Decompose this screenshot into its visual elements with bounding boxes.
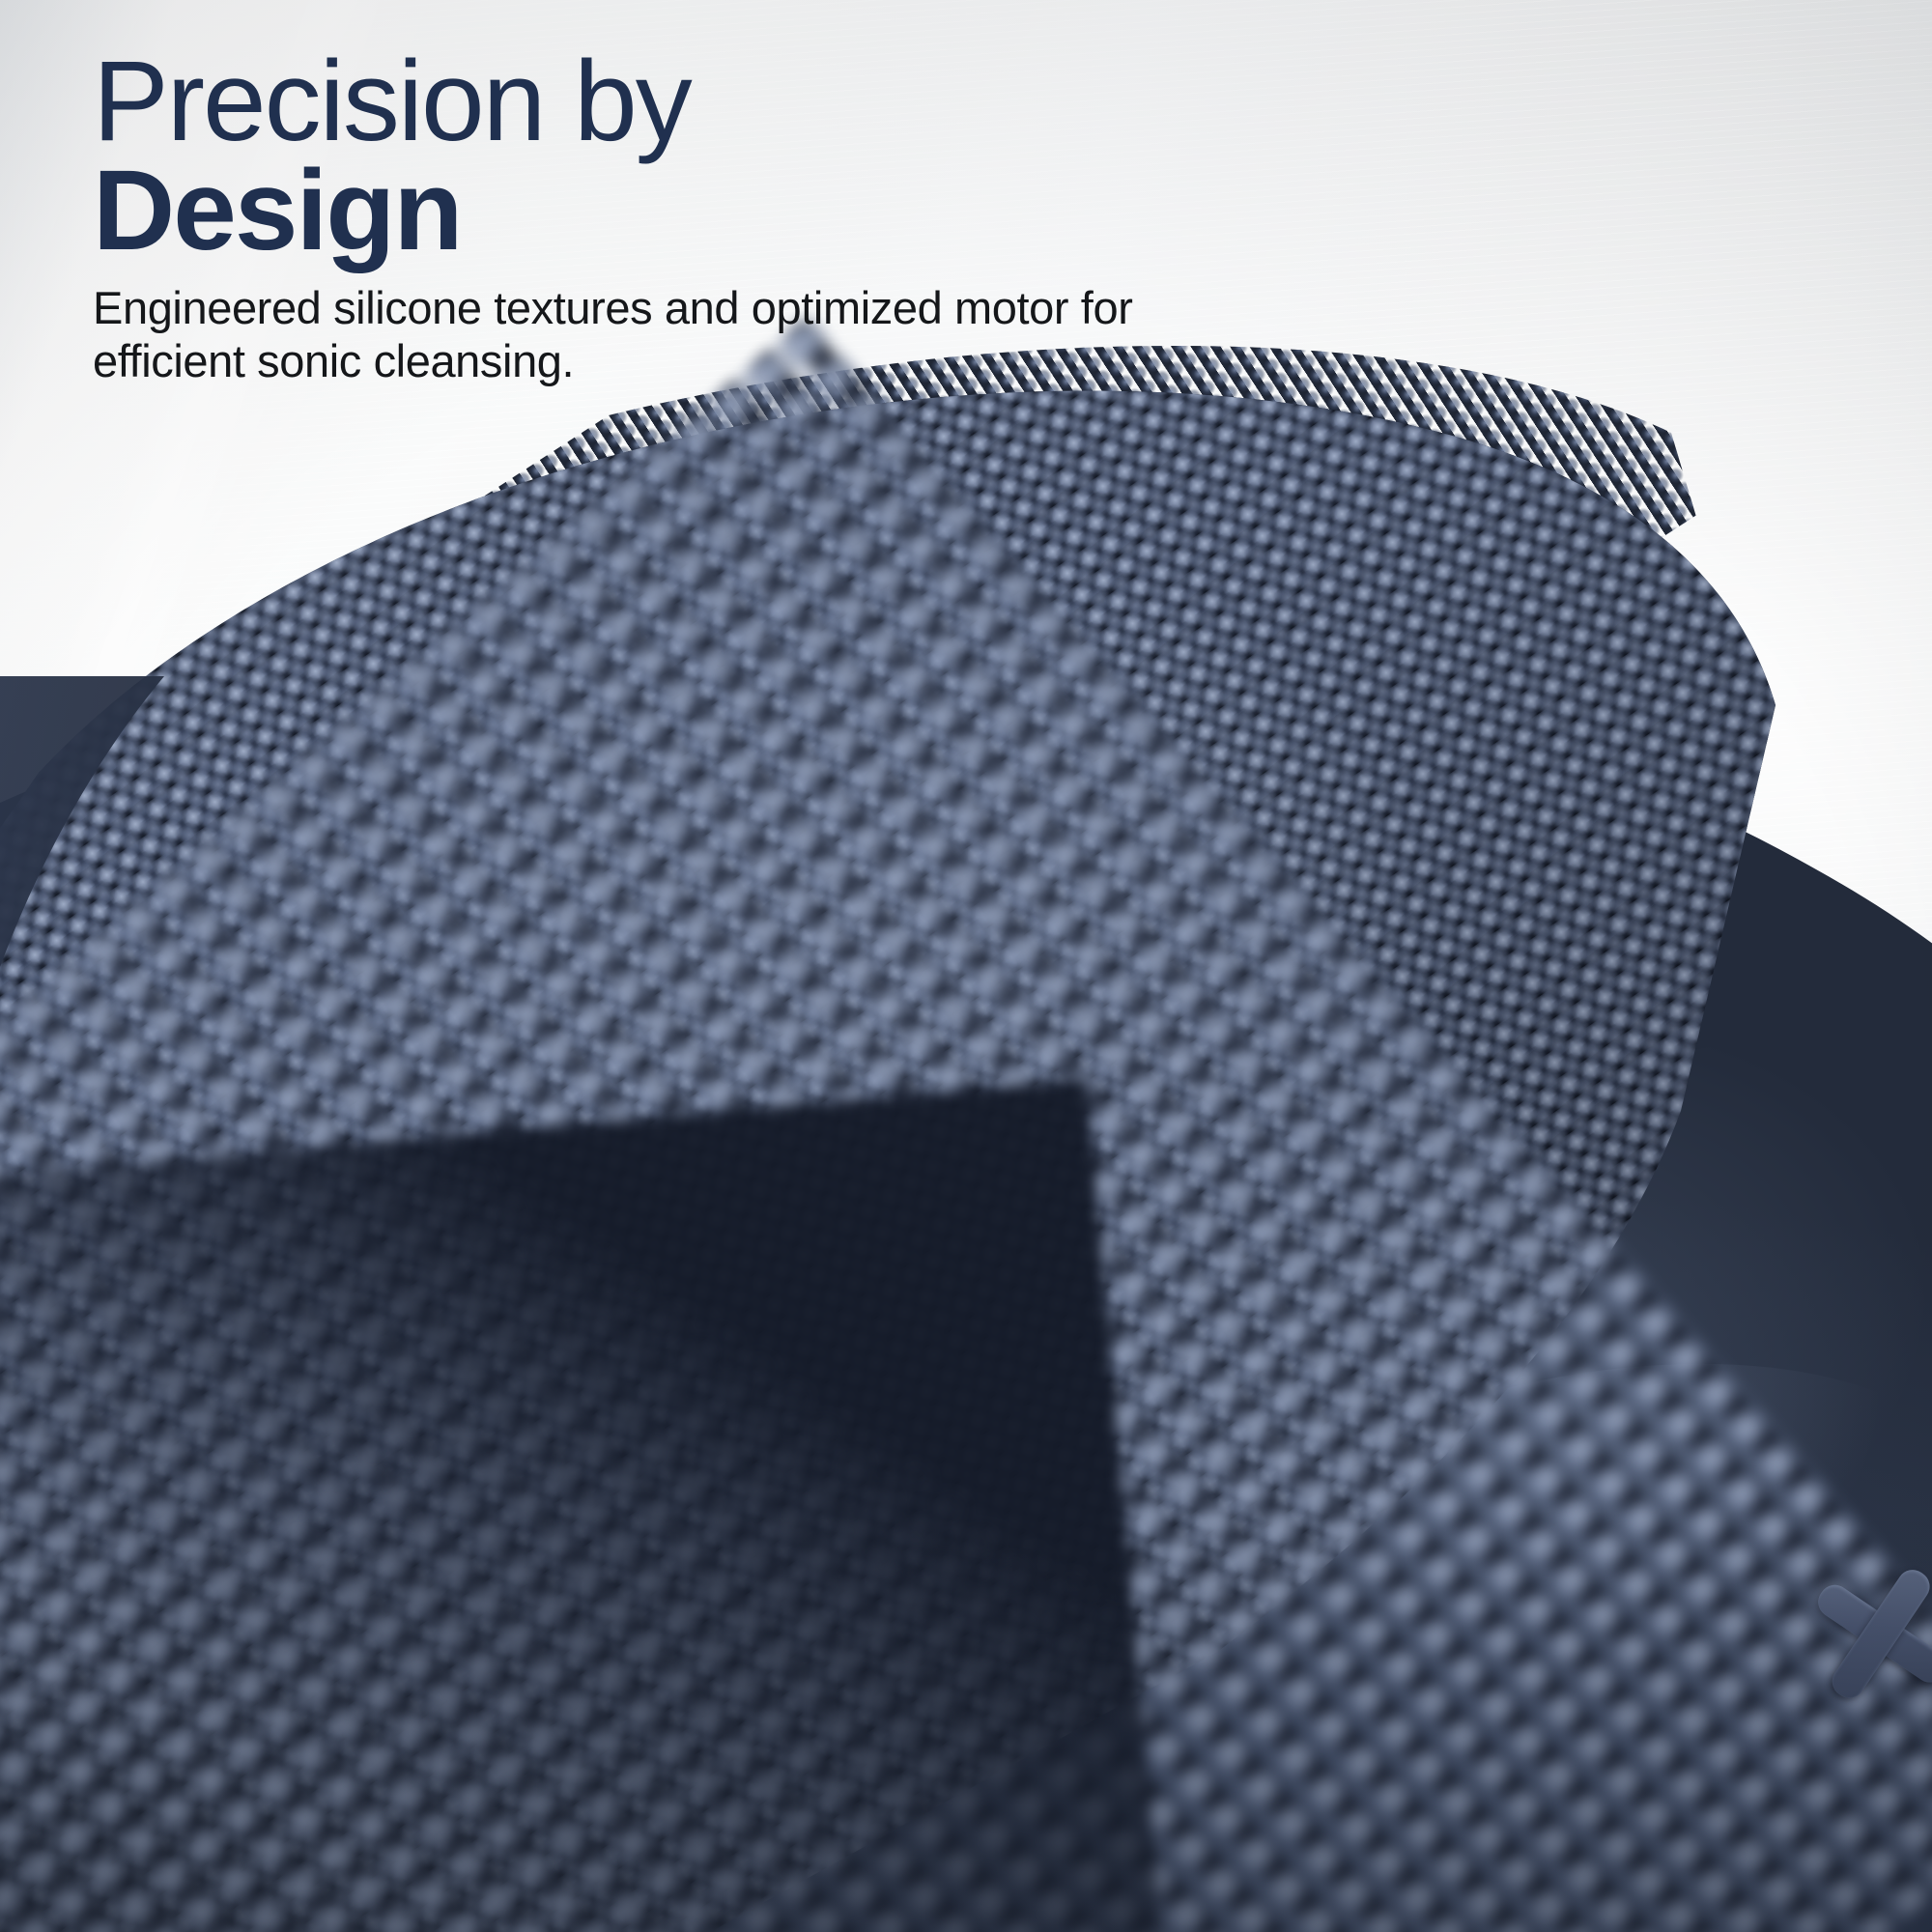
bottom-shadow bbox=[0, 1507, 1932, 1932]
subtitle-block: Engineered silicone textures and optimiz… bbox=[93, 282, 1378, 388]
subtitle-line2: efficient sonic cleansing. bbox=[93, 335, 1378, 388]
promo-banner: Precision by Design Engineered silicone … bbox=[0, 0, 1932, 1932]
header-block: Precision by Design Engineered silicone … bbox=[93, 44, 1542, 388]
page-title-line1: Precision by bbox=[93, 44, 1542, 158]
page-title-line2: Design bbox=[93, 153, 1542, 269]
subtitle-line1: Engineered silicone textures and optimiz… bbox=[93, 282, 1378, 335]
plus-icon-bar-vertical bbox=[1827, 1564, 1932, 1704]
